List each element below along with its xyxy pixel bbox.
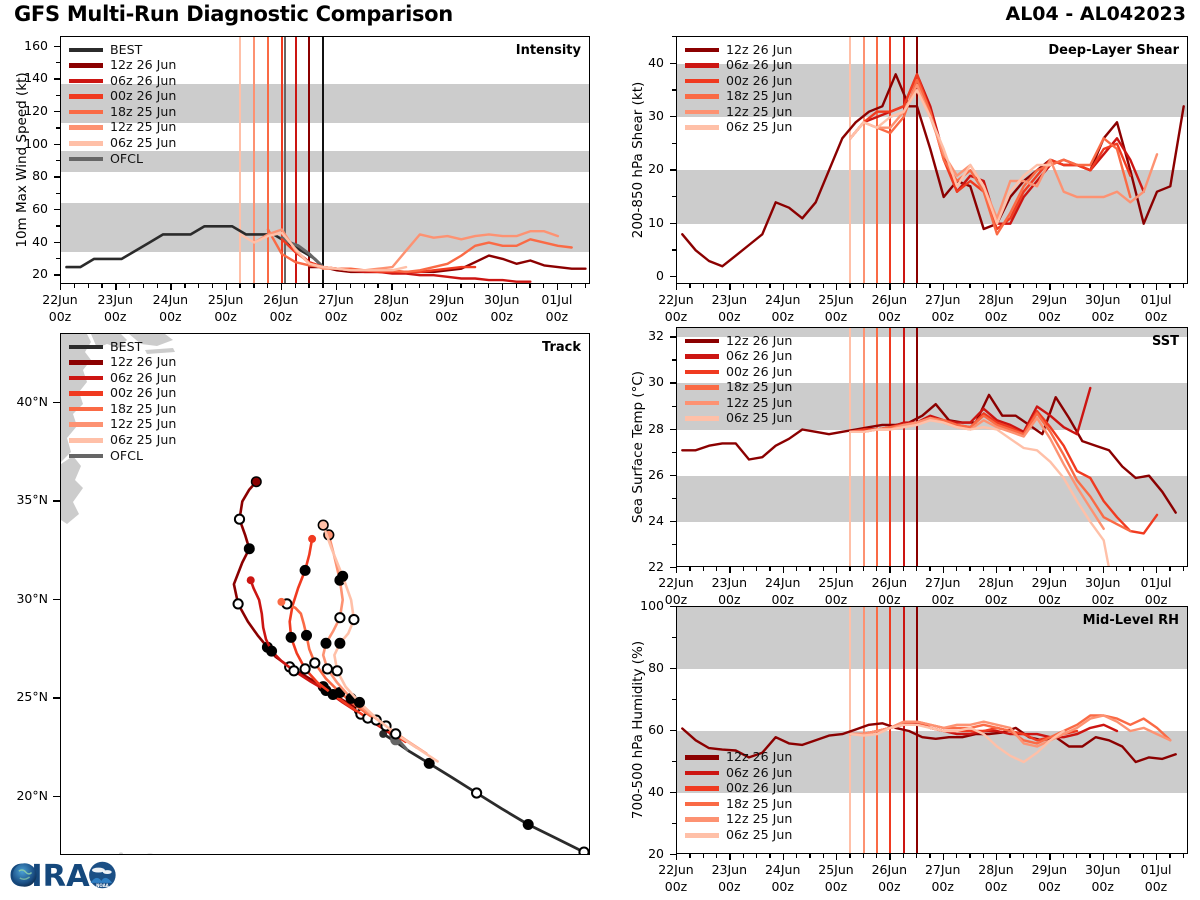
legend-item[interactable]: 06z 25 Jun bbox=[69, 136, 176, 152]
x-tick-mark bbox=[226, 284, 227, 290]
legend-label: 12z 25 Jun bbox=[110, 418, 176, 431]
y-minor-tick bbox=[672, 761, 676, 762]
x-tick-mark bbox=[743, 854, 744, 858]
plot-area-track: TrackBEST12z 26 Jun06z 26 Jun00z 26 Jun1… bbox=[60, 333, 590, 855]
legend-label: 06z 26 Jun bbox=[726, 350, 792, 363]
x-tick-mark bbox=[391, 284, 392, 290]
y-minor-tick bbox=[56, 160, 60, 161]
legend-item[interactable]: 12z 26 Jun bbox=[685, 333, 792, 349]
x-tick-mark bbox=[729, 854, 730, 860]
y-minor-tick bbox=[56, 62, 60, 63]
legend-label: OFCL bbox=[110, 450, 143, 463]
x-tick-mark bbox=[809, 567, 810, 571]
legend-color-swatch bbox=[685, 817, 719, 822]
legend-color-swatch bbox=[69, 48, 103, 53]
x-tick-mark bbox=[1036, 284, 1037, 288]
x-tick-mark bbox=[1156, 854, 1157, 860]
x-tick-mark bbox=[405, 284, 406, 288]
y-minor-tick bbox=[672, 699, 676, 700]
x-tick-mark bbox=[756, 854, 757, 858]
x-tick-mark bbox=[267, 284, 268, 288]
plot-area-sst: SST12z 26 Jun06z 26 Jun00z 26 Jun18z 25 … bbox=[676, 327, 1188, 567]
legend-color-swatch bbox=[69, 79, 103, 84]
legend-item[interactable]: OFCL bbox=[69, 448, 176, 464]
legend-label: 00z 26 Jun bbox=[110, 387, 176, 400]
x-tick-mark bbox=[889, 284, 890, 290]
legend-item[interactable]: 18z 25 Jun bbox=[685, 89, 792, 105]
x-tick-mark bbox=[863, 284, 864, 288]
legend-item[interactable]: 06z 25 Jun bbox=[685, 827, 792, 843]
legend-label: 12z 25 Jun bbox=[726, 813, 792, 826]
legend-item[interactable]: 06z 25 Jun bbox=[685, 411, 792, 427]
x-tick-mark bbox=[1023, 567, 1024, 571]
y-tick-label: 22 bbox=[616, 559, 664, 574]
track-endpoint bbox=[308, 535, 316, 543]
x-tick-mark bbox=[956, 854, 957, 858]
x-tick-mark bbox=[769, 284, 770, 288]
x-tick-mark bbox=[1063, 284, 1064, 288]
legend-color-swatch bbox=[69, 438, 103, 443]
x-tick-mark bbox=[929, 854, 930, 858]
figure-root: GFS Multi-Run Diagnostic Comparison AL04… bbox=[0, 0, 1200, 900]
legend-color-swatch bbox=[69, 141, 103, 146]
track-marker-solid bbox=[338, 571, 348, 581]
legend-item[interactable]: 18z 25 Jun bbox=[685, 796, 792, 812]
x-tick-mark bbox=[796, 854, 797, 858]
legend-label: 18z 25 Jun bbox=[726, 798, 792, 811]
track-marker-open bbox=[235, 515, 244, 524]
x-tick-mark bbox=[689, 854, 690, 858]
y-minor-tick bbox=[672, 452, 676, 453]
x-tick-mark bbox=[308, 284, 309, 288]
x-tick-mark bbox=[836, 567, 837, 573]
y-axis-label-intensity: 10m Max Wind Speed (kt) bbox=[14, 72, 30, 247]
legend-label: 00z 26 Jun bbox=[726, 782, 792, 795]
x-tick-mark bbox=[1036, 854, 1037, 858]
y-tick-mark bbox=[54, 144, 60, 145]
x-tick-label-date: 01Jul bbox=[1121, 292, 1191, 307]
track-marker-open bbox=[301, 664, 310, 673]
x-tick-mark bbox=[876, 284, 877, 288]
x-tick-mark bbox=[516, 284, 517, 288]
x-tick-mark bbox=[889, 567, 890, 573]
x-tick-mark bbox=[796, 284, 797, 288]
y-axis-label-sst: Sea Surface Temp (°C) bbox=[630, 371, 646, 523]
x-tick-mark bbox=[1076, 854, 1077, 858]
y-tick-mark bbox=[670, 276, 676, 277]
x-tick-mark bbox=[157, 284, 158, 288]
x-tick-mark bbox=[756, 284, 757, 288]
lat-tick-mark bbox=[53, 500, 60, 501]
legend-color-swatch bbox=[69, 110, 103, 115]
x-tick-mark bbox=[823, 284, 824, 288]
y-tick-label: 20 bbox=[0, 266, 48, 281]
legend-label: 12z 25 Jun bbox=[726, 106, 792, 119]
y-tick-mark bbox=[670, 668, 676, 669]
legend-label: 18z 25 Jun bbox=[726, 90, 792, 103]
x-tick-mark bbox=[1169, 567, 1170, 571]
x-tick-mark bbox=[1089, 567, 1090, 571]
x-tick-mark bbox=[1116, 284, 1117, 288]
track-marker-open bbox=[323, 664, 332, 673]
y-tick-mark bbox=[54, 111, 60, 112]
x-tick-mark bbox=[849, 284, 850, 288]
series-line bbox=[850, 418, 1103, 529]
cira-logo: CIRA NOAA bbox=[6, 852, 124, 898]
x-tick-mark bbox=[377, 284, 378, 288]
legend-label: 18z 25 Jun bbox=[110, 403, 176, 416]
legend-label: 06z 25 Jun bbox=[110, 434, 176, 447]
x-tick-mark bbox=[1076, 284, 1077, 288]
x-tick-mark bbox=[543, 284, 544, 288]
x-tick-mark bbox=[1129, 567, 1130, 571]
x-tick-mark bbox=[1049, 567, 1050, 573]
x-tick-mark bbox=[703, 284, 704, 288]
legend-item[interactable]: 12z 26 Jun bbox=[685, 749, 792, 765]
y-tick-mark bbox=[54, 274, 60, 275]
y-tick-mark bbox=[54, 176, 60, 177]
legend-item[interactable]: 06z 26 Jun bbox=[685, 765, 792, 781]
legend-color-swatch bbox=[685, 771, 719, 776]
x-tick-mark bbox=[474, 284, 475, 288]
x-tick-mark bbox=[1156, 567, 1157, 573]
y-tick-mark bbox=[670, 429, 676, 430]
x-tick-mark bbox=[889, 854, 890, 860]
x-tick-mark bbox=[1103, 854, 1104, 860]
y-tick-mark bbox=[54, 242, 60, 243]
legend-item[interactable]: 18z 25 Jun bbox=[69, 401, 176, 417]
legend-label: 00z 26 Jun bbox=[726, 75, 792, 88]
x-tick-mark bbox=[836, 854, 837, 860]
track-endpoint bbox=[247, 576, 255, 584]
x-tick-mark bbox=[823, 567, 824, 571]
track-marker-solid bbox=[244, 544, 254, 554]
legend-label: 18z 25 Jun bbox=[726, 381, 792, 394]
x-tick-mark bbox=[1169, 284, 1170, 288]
y-tick-mark bbox=[670, 792, 676, 793]
x-tick-mark bbox=[1009, 567, 1010, 571]
legend-label: BEST bbox=[110, 341, 142, 354]
y-minor-tick bbox=[672, 637, 676, 638]
panel-title-rh: Mid-Level RH bbox=[1083, 613, 1179, 628]
x-tick-mark bbox=[1183, 567, 1184, 571]
x-tick-mark bbox=[716, 567, 717, 571]
x-tick-mark bbox=[488, 284, 489, 288]
x-tick-mark bbox=[983, 567, 984, 571]
x-tick-mark bbox=[676, 284, 677, 290]
series-line bbox=[850, 80, 1130, 235]
x-tick-mark bbox=[903, 567, 904, 571]
x-tick-mark bbox=[447, 284, 448, 290]
x-tick-mark bbox=[876, 567, 877, 571]
legend-color-swatch bbox=[685, 833, 719, 838]
legend-color-swatch bbox=[685, 110, 719, 115]
legend-item[interactable]: 12z 26 Jun bbox=[685, 42, 792, 58]
y-minor-tick bbox=[56, 225, 60, 226]
x-tick-label-hour: 00z bbox=[522, 309, 592, 324]
legend-label: 06z 26 Jun bbox=[726, 59, 792, 72]
plot-area-shear: Deep-Layer Shear12z 26 Jun06z 26 Jun00z … bbox=[676, 36, 1188, 284]
legend-color-swatch bbox=[69, 125, 103, 130]
legend-item[interactable]: BEST bbox=[69, 42, 176, 58]
x-tick-mark bbox=[969, 567, 970, 571]
y-minor-tick bbox=[672, 359, 676, 360]
x-tick-mark bbox=[743, 284, 744, 288]
x-tick-mark bbox=[996, 854, 997, 860]
x-tick-mark bbox=[336, 284, 337, 290]
series-line bbox=[240, 233, 406, 270]
y-tick-label: 20 bbox=[616, 846, 664, 861]
legend-label: 12z 26 Jun bbox=[110, 59, 176, 72]
x-tick-mark bbox=[849, 854, 850, 858]
x-tick-mark bbox=[1009, 854, 1010, 858]
y-tick-mark bbox=[670, 336, 676, 337]
legend-item[interactable]: 12z 25 Jun bbox=[685, 104, 792, 120]
legend-color-swatch bbox=[685, 63, 719, 68]
y-minor-tick bbox=[56, 95, 60, 96]
plot-area-rh: Mid-Level RH12z 26 Jun06z 26 Jun00z 26 J… bbox=[676, 606, 1188, 854]
y-minor-tick bbox=[672, 196, 676, 197]
track-marker-open bbox=[472, 788, 481, 797]
track-marker-open bbox=[234, 599, 243, 608]
track-marker-solid bbox=[335, 638, 345, 648]
x-tick-mark bbox=[1156, 284, 1157, 290]
legend-item[interactable]: 18z 25 Jun bbox=[69, 104, 176, 120]
legend-label: 18z 25 Jun bbox=[110, 106, 176, 119]
lat-tick-mark bbox=[53, 402, 60, 403]
y-minor-tick bbox=[672, 544, 676, 545]
x-tick-mark bbox=[863, 854, 864, 858]
legend-label: 06z 26 Jun bbox=[110, 75, 176, 88]
legend-item[interactable]: 12z 26 Jun bbox=[69, 355, 176, 371]
legend-item[interactable]: 06z 26 Jun bbox=[69, 73, 176, 89]
y-minor-tick bbox=[672, 498, 676, 499]
legend-color-swatch bbox=[69, 94, 103, 99]
track-marker-open bbox=[349, 615, 358, 624]
legend-item[interactable]: 06z 26 Jun bbox=[685, 58, 792, 74]
lat-tick-label: 30°N bbox=[0, 591, 48, 606]
x-tick-mark bbox=[849, 567, 850, 571]
y-minor-tick bbox=[672, 143, 676, 144]
legend-item[interactable]: 06z 25 Jun bbox=[69, 433, 176, 449]
legend-color-swatch bbox=[685, 416, 719, 421]
legend-item[interactable]: 12z 26 Jun bbox=[69, 58, 176, 74]
track-endpoint bbox=[252, 478, 260, 486]
panel-title-intensity: Intensity bbox=[516, 43, 581, 58]
panel-title-track: Track bbox=[542, 340, 581, 355]
y-minor-tick bbox=[672, 89, 676, 90]
x-tick-mark bbox=[101, 284, 102, 288]
x-tick-mark bbox=[1143, 854, 1144, 858]
lat-tick-label: 25°N bbox=[0, 689, 48, 704]
x-tick-mark bbox=[571, 284, 572, 288]
lat-tick-label: 20°N bbox=[0, 788, 48, 803]
y-tick-mark bbox=[670, 382, 676, 383]
x-tick-mark bbox=[943, 567, 944, 573]
legend-intensity: BEST12z 26 Jun06z 26 Jun00z 26 Jun18z 25… bbox=[69, 42, 176, 167]
x-tick-mark bbox=[943, 854, 944, 860]
track-marker-solid bbox=[321, 638, 331, 648]
x-tick-mark bbox=[1009, 284, 1010, 288]
x-tick-mark bbox=[903, 284, 904, 288]
x-tick-mark bbox=[1089, 854, 1090, 858]
lat-tick-mark bbox=[53, 796, 60, 797]
legend-color-swatch bbox=[69, 391, 103, 396]
x-tick-mark bbox=[1169, 854, 1170, 858]
y-tick-label: 32 bbox=[616, 328, 664, 343]
x-tick-mark bbox=[996, 284, 997, 290]
x-tick-mark bbox=[115, 284, 116, 290]
legend-color-swatch bbox=[685, 125, 719, 130]
legend-item[interactable]: BEST bbox=[69, 339, 176, 355]
x-tick-mark bbox=[253, 284, 254, 288]
plot-area-intensity: IntensityBEST12z 26 Jun06z 26 Jun00z 26 … bbox=[60, 36, 590, 284]
x-tick-mark bbox=[863, 567, 864, 571]
legend-color-swatch bbox=[685, 401, 719, 406]
page-title: GFS Multi-Run Diagnostic Comparison bbox=[14, 2, 453, 26]
y-minor-tick bbox=[56, 258, 60, 259]
legend-item[interactable]: 06z 26 Jun bbox=[69, 370, 176, 386]
track-line bbox=[234, 482, 394, 734]
track-marker-open bbox=[289, 666, 298, 675]
legend-label: OFCL bbox=[110, 153, 143, 166]
legend-item[interactable]: 00z 26 Jun bbox=[685, 73, 792, 89]
x-tick-mark bbox=[239, 284, 240, 288]
y-tick-mark bbox=[670, 116, 676, 117]
legend-item[interactable]: 12z 25 Jun bbox=[685, 395, 792, 411]
x-tick-mark bbox=[88, 284, 89, 288]
legend-color-swatch bbox=[685, 385, 719, 390]
x-tick-mark bbox=[929, 284, 930, 288]
x-tick-mark bbox=[729, 284, 730, 290]
y-tick-mark bbox=[670, 475, 676, 476]
x-tick-mark bbox=[916, 567, 917, 571]
legend-color-swatch bbox=[69, 422, 103, 427]
x-tick-mark bbox=[60, 284, 61, 290]
x-tick-mark bbox=[322, 284, 323, 288]
legend-item[interactable]: 06z 26 Jun bbox=[685, 349, 792, 365]
legend-item[interactable]: 18z 25 Jun bbox=[685, 380, 792, 396]
x-tick-mark bbox=[184, 284, 185, 288]
x-tick-mark bbox=[1036, 567, 1037, 571]
legend-item[interactable]: 12z 25 Jun bbox=[69, 417, 176, 433]
x-tick-mark bbox=[783, 854, 784, 860]
x-tick-mark bbox=[1076, 567, 1077, 571]
legend-item[interactable]: OFCL bbox=[69, 151, 176, 167]
series-line bbox=[296, 251, 531, 282]
x-tick-mark bbox=[983, 284, 984, 288]
x-tick-mark bbox=[419, 284, 420, 288]
x-tick-mark bbox=[796, 567, 797, 571]
legend-label: 06z 26 Jun bbox=[726, 767, 792, 780]
legend-item[interactable]: 12z 25 Jun bbox=[69, 120, 176, 136]
x-tick-mark bbox=[903, 854, 904, 858]
legend-label: 06z 26 Jun bbox=[110, 372, 176, 385]
track-marker-solid bbox=[286, 632, 296, 642]
x-tick-mark bbox=[1049, 854, 1050, 860]
legend-item[interactable]: 00z 26 Jun bbox=[685, 781, 792, 797]
x-tick-mark bbox=[676, 854, 677, 860]
y-tick-mark bbox=[54, 78, 60, 79]
legend-color-swatch bbox=[685, 354, 719, 359]
x-tick-mark bbox=[809, 284, 810, 288]
x-tick-mark bbox=[783, 567, 784, 573]
legend-color-swatch bbox=[69, 345, 103, 350]
x-tick-mark bbox=[433, 284, 434, 288]
x-tick-label-date: 01Jul bbox=[1121, 575, 1191, 590]
track-marker-solid bbox=[302, 630, 312, 640]
legend-label: 06z 25 Jun bbox=[110, 137, 176, 150]
x-tick-label-date: 01Jul bbox=[1121, 862, 1191, 877]
x-tick-label-hour: 00z bbox=[1121, 309, 1191, 324]
legend-rh: 12z 26 Jun06z 26 Jun00z 26 Jun18z 25 Jun… bbox=[685, 749, 792, 843]
legend-item[interactable]: 00z 26 Jun bbox=[69, 386, 176, 402]
y-tick-label: 40 bbox=[616, 55, 664, 70]
x-tick-mark bbox=[956, 284, 957, 288]
x-tick-mark bbox=[689, 284, 690, 288]
legend-item[interactable]: 00z 26 Jun bbox=[685, 364, 792, 380]
x-tick-mark bbox=[743, 567, 744, 571]
series-line bbox=[850, 413, 1130, 531]
lat-tick-label: 40°N bbox=[0, 394, 48, 409]
legend-item[interactable]: 12z 25 Jun bbox=[685, 812, 792, 828]
storm-id-title: AL04 - AL042023 bbox=[1006, 3, 1187, 25]
x-tick-mark bbox=[756, 567, 757, 571]
y-tick-mark bbox=[670, 521, 676, 522]
y-tick-mark bbox=[670, 730, 676, 731]
x-tick-mark bbox=[1103, 567, 1104, 573]
track-endpoint bbox=[319, 521, 327, 529]
legend-color-swatch bbox=[685, 755, 719, 760]
y-tick-label: 100 bbox=[616, 598, 664, 613]
x-tick-mark bbox=[1089, 284, 1090, 288]
legend-track: BEST12z 26 Jun06z 26 Jun00z 26 Jun18z 25… bbox=[69, 339, 176, 464]
x-tick-mark bbox=[996, 567, 997, 573]
lat-tick-mark bbox=[53, 697, 60, 698]
legend-item[interactable]: 00z 26 Jun bbox=[69, 89, 176, 105]
x-tick-mark bbox=[823, 854, 824, 858]
x-tick-mark bbox=[529, 284, 530, 288]
x-tick-mark bbox=[676, 567, 677, 573]
legend-label: 12z 25 Jun bbox=[726, 397, 792, 410]
x-tick-mark bbox=[295, 284, 296, 288]
panel-title-shear: Deep-Layer Shear bbox=[1048, 43, 1179, 58]
y-tick-mark bbox=[670, 223, 676, 224]
x-tick-label-date: 01Jul bbox=[522, 292, 592, 307]
y-minor-tick bbox=[672, 823, 676, 824]
x-tick-mark bbox=[716, 284, 717, 288]
legend-item[interactable]: 06z 25 Jun bbox=[685, 120, 792, 136]
x-tick-mark bbox=[198, 284, 199, 288]
x-tick-mark bbox=[956, 567, 957, 571]
y-tick-mark bbox=[670, 169, 676, 170]
legend-label: BEST bbox=[110, 44, 142, 57]
track-marker-open bbox=[579, 848, 588, 856]
x-tick-mark bbox=[1063, 567, 1064, 571]
x-tick-mark bbox=[876, 854, 877, 858]
panel-title-sst: SST bbox=[1152, 334, 1179, 349]
x-tick-label-hour: 00z bbox=[1121, 879, 1191, 894]
track-marker-open bbox=[335, 613, 344, 622]
x-tick-mark bbox=[1023, 854, 1024, 858]
y-axis-label-rh: 700-500 hPa Humidity (%) bbox=[630, 641, 646, 819]
legend-color-swatch bbox=[69, 157, 103, 162]
track-endpoint bbox=[277, 598, 285, 606]
legend-color-swatch bbox=[685, 94, 719, 99]
x-tick-mark bbox=[585, 284, 586, 288]
x-tick-mark bbox=[689, 567, 690, 571]
legend-color-swatch bbox=[685, 802, 719, 807]
